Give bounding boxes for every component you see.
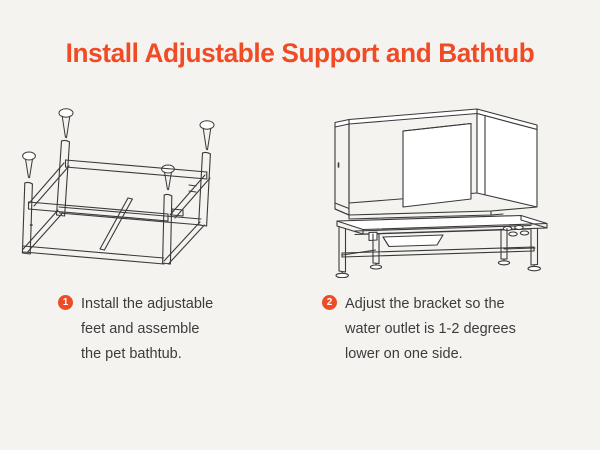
adjustable-foot-icon: [59, 108, 73, 137]
step-number-badge-1: 1: [58, 295, 73, 310]
illustration-row: [0, 100, 600, 280]
caption-line: the pet bathtub.: [81, 342, 213, 367]
adjustable-foot-pad: [370, 263, 381, 269]
step-number-badge-2: 2: [322, 295, 337, 310]
illustration-cell-2: [300, 100, 600, 280]
caption-step-1: 1 Install the adjustable feet and assemb…: [0, 292, 300, 402]
water-outlet-slope-plate: [383, 235, 443, 247]
frame-leg: [22, 182, 32, 254]
frame-diagonal-brace: [100, 198, 132, 250]
adjustable-foot-pad: [498, 259, 509, 265]
support-frame-illustration: [20, 103, 280, 278]
frame-rail-side-right: [170, 175, 210, 218]
stand-leg: [501, 228, 507, 259]
caption-text-2: Adjust the bracket so the water outlet i…: [345, 292, 516, 367]
tub-right-wall: [477, 113, 537, 207]
stand-leg: [339, 226, 346, 272]
bathtub-on-bracket-illustration: [325, 103, 575, 278]
caption-text-1: Install the adjustable feet and assemble…: [81, 292, 213, 367]
adjustable-foot-pad: [336, 271, 348, 277]
frame-rail-lower-side-left: [23, 210, 62, 252]
frame-rail-lower-front: [23, 246, 164, 264]
caption-line: lower on one side.: [345, 342, 516, 367]
page-title: Install Adjustable Support and Bathtub: [9, 36, 591, 70]
caption-line: water outlet is 1-2 degrees: [345, 317, 516, 342]
caption-line: Adjust the bracket so the: [345, 292, 516, 317]
caption-row: 1 Install the adjustable feet and assemb…: [0, 292, 600, 402]
caption-line: feet and assemble: [81, 317, 213, 342]
frame-rail-upper-back: [66, 160, 207, 179]
tub-left-panel: [335, 119, 349, 215]
illustration-cell-1: [0, 100, 300, 280]
instruction-card: Install Adjustable Support and Bathtub: [0, 0, 600, 450]
adjustable-foot-pad: [528, 264, 540, 270]
caption-line: Install the adjustable: [81, 292, 213, 317]
caption-step-2: 2 Adjust the bracket so the water outlet…: [300, 292, 600, 402]
frame-rail-side-left: [29, 163, 69, 206]
adjustable-foot-icon: [200, 120, 214, 149]
adjustable-foot-icon: [23, 152, 36, 178]
tub-front-panel: [403, 123, 471, 207]
frame-rail-upper-front: [29, 202, 169, 221]
